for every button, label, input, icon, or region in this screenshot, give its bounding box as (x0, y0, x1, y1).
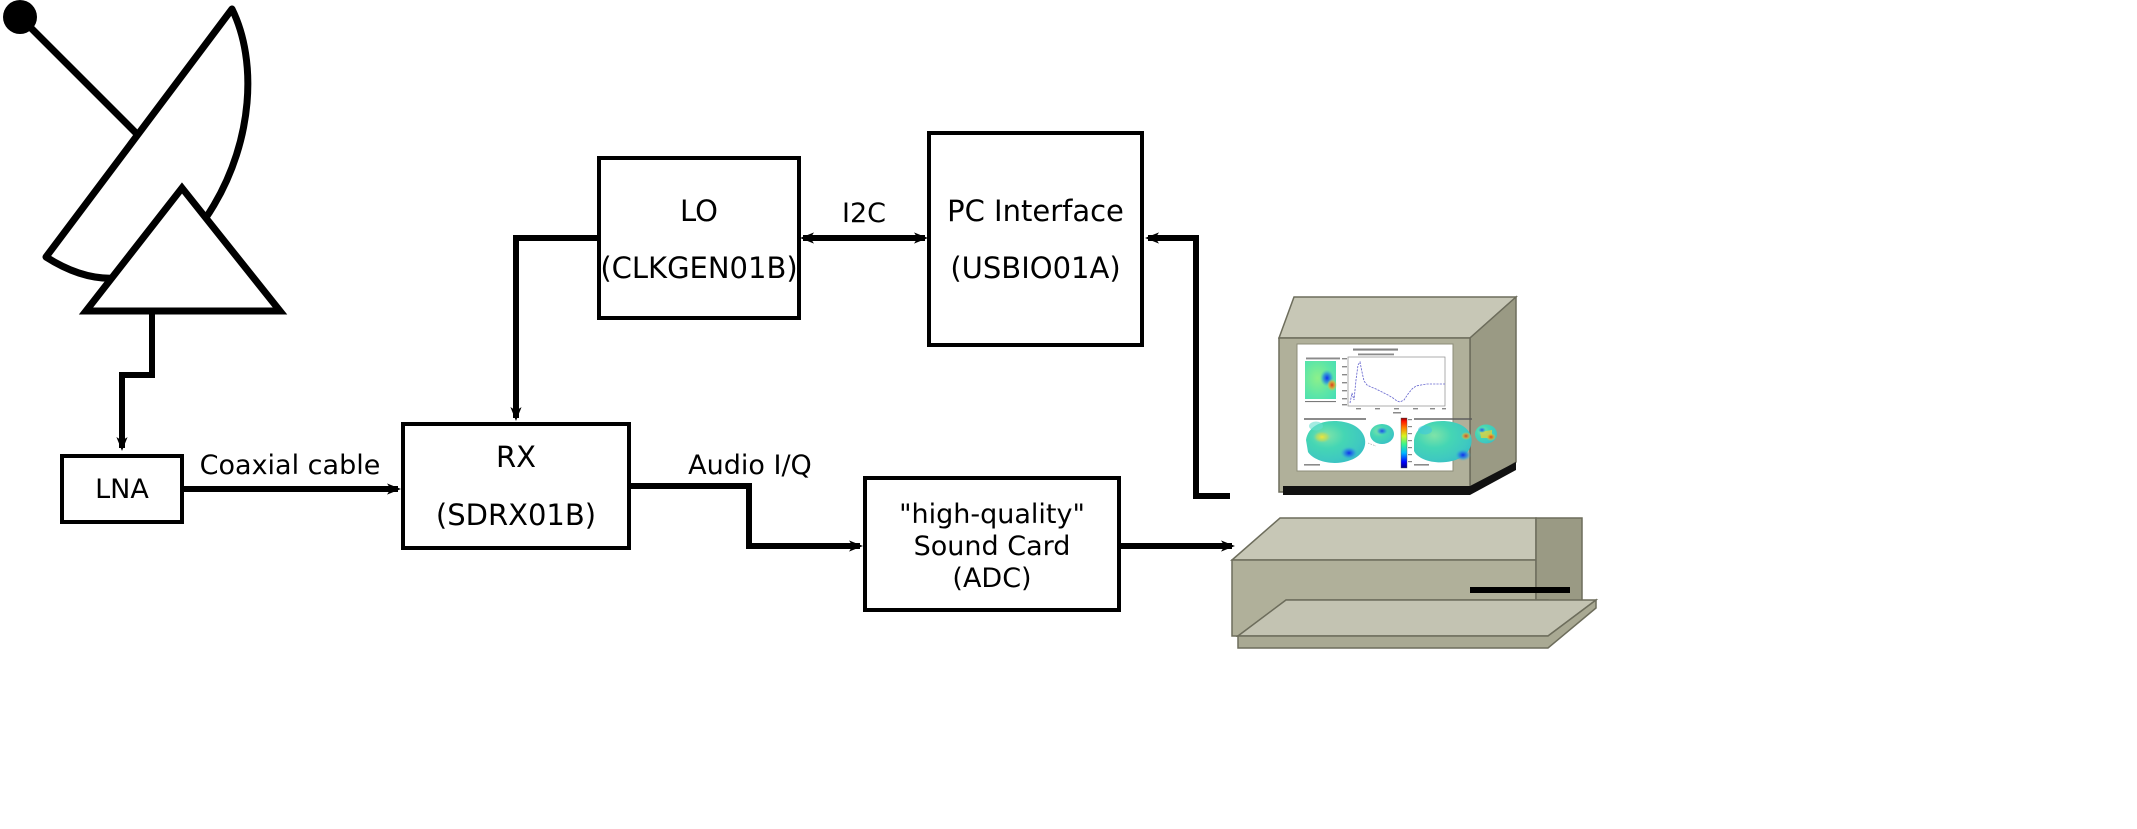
block-sound-card-label-line1: "high-quality" (865, 500, 1119, 529)
block-sound-card-label-line3: (ADC) (865, 564, 1119, 593)
satellite-dish-icon (3, 0, 280, 311)
block-pc-interface[interactable] (929, 133, 1142, 345)
block-pc-interface-label-line1: PC Interface (929, 194, 1142, 228)
block-lo-label-line1: LO (599, 194, 799, 228)
edge-lo-to-rx (516, 238, 599, 418)
edge-pc-to-interface (1148, 238, 1230, 496)
block-pc-interface-label-line2: (USBIO01A) (929, 251, 1142, 285)
block-lo[interactable] (599, 158, 799, 318)
panel-xy-line-plot (1342, 357, 1446, 414)
dish-feed-point (3, 0, 37, 34)
edge-label-coaxial-cable: Coaxial cable (180, 450, 400, 481)
block-rx-label-line2: (SDRX01B) (403, 498, 629, 532)
edge-label-i2c: I2C (803, 198, 925, 229)
edge-antenna-to-lna (122, 312, 152, 448)
block-diagram-canvas: LNA Coaxial cable RX (SDRX01B) LO (CLKGE… (0, 0, 2137, 829)
edge-label-audio-iq: Audio I/Q (640, 450, 860, 481)
block-lo-label-line2: (CLKGEN01B) (589, 251, 809, 285)
edge-audio-iq (629, 486, 860, 546)
drive-slot (1470, 587, 1570, 593)
block-rx-label-line1: RX (403, 440, 629, 474)
block-lna-label: LNA (62, 456, 182, 522)
panel-surface-heatmap (1305, 361, 1337, 402)
desktop-computer-icon (1232, 297, 1596, 648)
block-sound-card-label-line2: Sound Card (865, 532, 1119, 561)
